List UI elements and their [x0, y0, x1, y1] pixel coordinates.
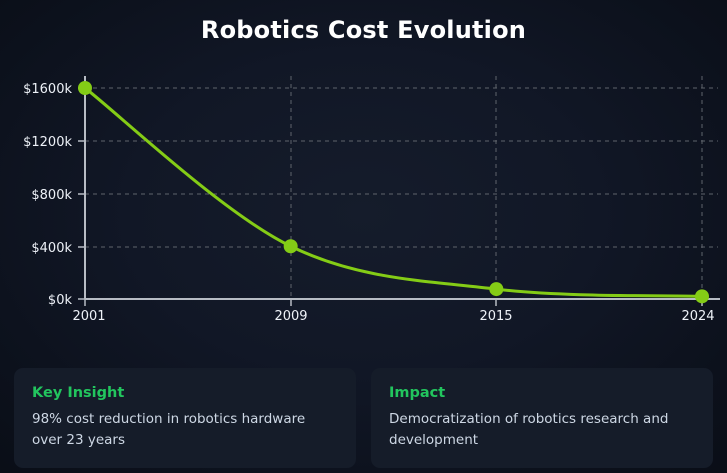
insight-cards: Key Insight 98% cost reduction in roboti…	[14, 368, 713, 468]
page-title: Robotics Cost Evolution	[0, 16, 727, 44]
y-tick-label: $1200k	[23, 135, 72, 150]
chart-axes	[85, 76, 720, 299]
data-point-2001[interactable]	[78, 81, 92, 95]
card-title: Key Insight	[32, 385, 338, 402]
x-tick-label: 2001	[72, 309, 105, 324]
x-axis-ticks	[85, 299, 702, 306]
data-point-2024[interactable]	[695, 289, 709, 303]
card-body: 98% cost reduction in robotics hardware …	[32, 409, 338, 450]
card-title: Impact	[389, 385, 695, 402]
y-tick-label: $1600k	[23, 82, 72, 97]
x-tick-label: 2024	[681, 309, 714, 324]
data-point-2015[interactable]	[489, 282, 503, 296]
chart-page: Robotics Cost Evolution	[0, 0, 727, 473]
y-axis-ticks	[78, 88, 85, 299]
line-chart-svg: $1600k $1200k $800k $400k $0k 2001 2009 …	[0, 60, 727, 335]
data-point-markers	[78, 81, 709, 303]
card-impact: Impact Democratization of robotics resea…	[371, 368, 713, 468]
data-point-2009[interactable]	[284, 239, 298, 253]
y-tick-label: $0k	[48, 293, 73, 308]
x-tick-label: 2009	[274, 309, 307, 324]
card-body: Democratization of robotics research and…	[389, 409, 695, 450]
card-key-insight: Key Insight 98% cost reduction in roboti…	[14, 368, 356, 468]
chart-plot-area: $1600k $1200k $800k $400k $0k 2001 2009 …	[0, 60, 727, 335]
y-tick-label: $800k	[31, 188, 72, 203]
y-tick-label: $400k	[31, 241, 72, 256]
x-axis-labels: 2001 2009 2015 2024	[72, 309, 714, 324]
x-tick-label: 2015	[479, 309, 512, 324]
y-axis-labels: $1600k $1200k $800k $400k $0k	[23, 82, 72, 308]
data-series-line	[85, 88, 702, 296]
gridlines-vertical	[291, 76, 702, 299]
